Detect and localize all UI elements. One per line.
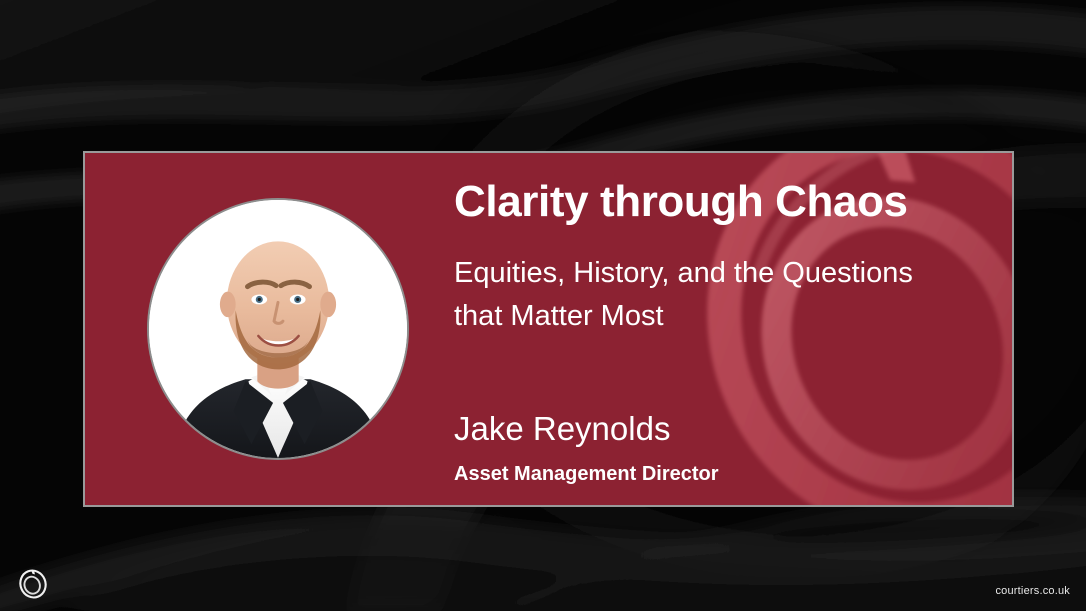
- presenter-portrait: [147, 198, 409, 460]
- slide-card: Clarity through Chaos Equities, History,…: [83, 151, 1014, 507]
- slide-subtitle: Equities, History, and the Questions tha…: [454, 252, 954, 338]
- slide-text-block: Clarity through Chaos Equities, History,…: [454, 176, 994, 487]
- footer-url[interactable]: courtiers.co.uk: [995, 585, 1070, 597]
- slide-title: Clarity through Chaos: [454, 176, 994, 228]
- courtiers-c-logo-icon: [14, 565, 52, 603]
- presenter-name: Jake Reynolds: [454, 410, 994, 448]
- presenter-role: Asset Management Director: [454, 461, 994, 487]
- presenter-portrait-image: [149, 200, 407, 458]
- presentation-slide: Clarity through Chaos Equities, History,…: [0, 0, 1086, 611]
